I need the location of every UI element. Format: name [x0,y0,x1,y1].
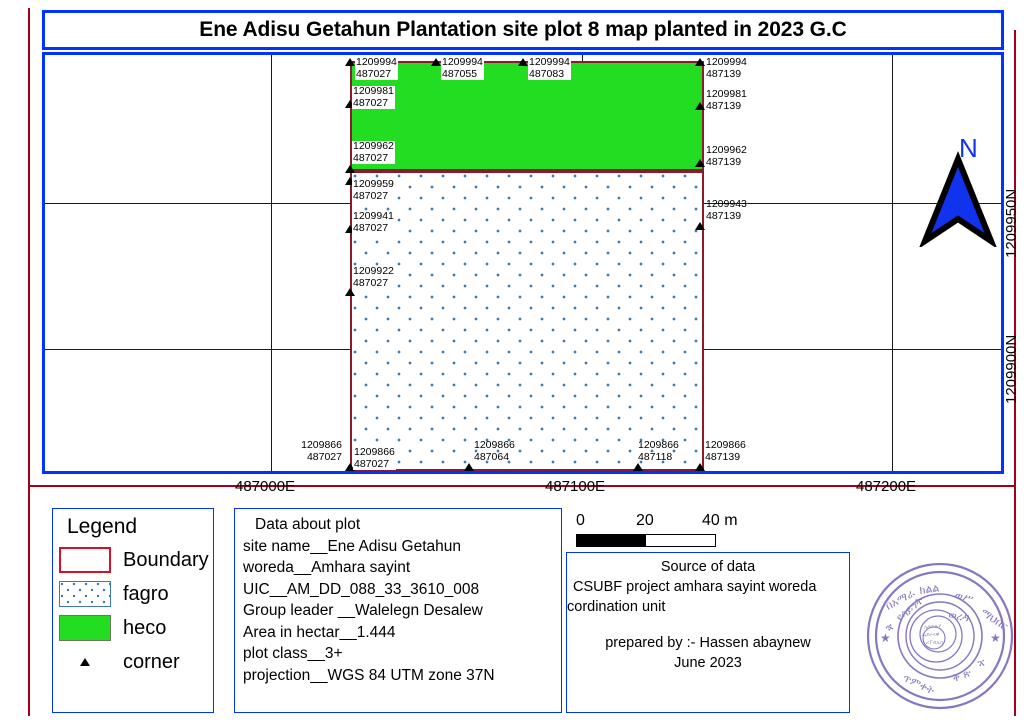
scale-tick-label: 40 m [702,512,738,530]
coord-label: 1209994 487083 [528,57,571,80]
svg-text:ፌደራላዊ: ፌደራላዊ [922,632,940,638]
legend-item-label: corner [123,651,180,674]
legend-item-label: fagro [123,583,169,606]
plot-data-row-group-leader: Group leader __Walelegn Desalew [243,600,561,622]
scale-bar [576,534,716,547]
source-line-1: CSUBF project amhara sayint woreda [567,577,849,597]
heco-polygon[interactable] [350,61,704,171]
corner-marker[interactable] [431,58,441,66]
scale-bar-segment-filled [577,535,646,546]
map-title-bar: Ene Adisu Getahun Plantation site plot 8… [42,10,1004,50]
corner-marker[interactable] [345,288,355,296]
corner-triangle-icon [59,649,111,675]
legend-item-fagro[interactable]: fagro [53,577,213,611]
coord-label: 1209941 487027 [352,211,395,234]
legend-item-corner[interactable]: corner [53,645,213,679]
coord-label: 1209866 487064 [473,440,516,463]
svg-text:ክልል: ክልል [919,581,941,597]
map-canvas[interactable]: 1209994 487027 1209994 487055 1209994 48… [45,55,1001,471]
svg-text:★: ★ [880,631,891,645]
corner-marker[interactable] [695,102,705,110]
graticule-line-vertical-487200 [892,55,893,471]
corner-marker[interactable] [633,463,643,471]
svg-text:ት: ት [974,655,989,669]
coord-label: 1209959 487027 [352,179,395,202]
corner-marker[interactable] [695,463,705,471]
plot-data-row-projection: projection__WGS 84 UTM zone 37N [243,665,561,687]
coord-label: 1209962 487027 [352,141,395,164]
north-arrow-icon [913,137,1003,247]
legend-title: Legend [53,515,213,539]
plot-data-panel: Data about plot site name__Ene Adisu Get… [234,508,562,713]
prepared-by-text: prepared by :- Hassen abaynew [567,633,849,653]
corner-marker[interactable] [695,58,705,66]
source-heading: Source of data [567,557,849,577]
x-axis-tick-label: 487000E [235,478,295,495]
legend-item-heco[interactable]: heco [53,611,213,645]
svg-text:ጥምቀት: ጥምቀት [901,671,937,698]
north-arrow-label: N [959,133,978,164]
corner-marker[interactable] [518,58,528,66]
corner-marker[interactable] [345,58,355,66]
plot-data-heading: Data about plot [243,514,561,536]
scale-bar-group: 0 20 40 m [576,512,836,547]
corner-marker[interactable] [695,222,705,230]
coord-label: 1209962 487139 [705,145,748,168]
scale-bar-segment-empty [646,535,715,546]
corner-marker[interactable] [695,159,705,167]
y-axis-tick-label: 1209950N [1003,189,1020,258]
coord-label: 1209994 487027 [355,57,398,80]
official-stamp-icon: በአማራ ክልል ወሥ ማህበር ቅ የሳይንት ወረዳ ጥምቀት ቅ ጽ ት … [862,556,1018,712]
plot-data-row-plot-class: plot class__3+ [243,643,561,665]
boundary-swatch-icon [59,547,111,573]
north-arrow: N [913,137,1003,247]
coord-label: 1209994 487139 [705,57,748,80]
x-axis-tick-label: 487200E [856,478,916,495]
plot-data-row-uic: UIC__AM_DD_088_33_3610_008 [243,579,561,601]
corner-marker[interactable] [464,463,474,471]
coord-label: 1209943 487139 [705,199,748,222]
scale-tick-label: 20 [636,512,654,530]
coord-label: 1209981 487139 [705,89,748,112]
plot-data-row-area: Area in hectar__1.444 [243,622,561,644]
legend-panel: Legend Boundary fagro heco corner [52,508,214,713]
graticule-line-vertical-487000 [271,55,272,471]
map-page: Ene Adisu Getahun Plantation site plot 8… [0,0,1024,724]
legend-item-boundary[interactable]: Boundary [53,543,213,577]
svg-text:★: ★ [990,631,1001,645]
coord-label: 1209994 487055 [441,57,484,80]
heco-swatch-icon [59,615,111,641]
svg-text:ኢትዮጵያ: ኢትዮጵያ [924,624,941,630]
corner-marker[interactable] [345,165,355,173]
svg-text:ወሥ: ወሥ [953,588,974,606]
fagro-swatch-icon [59,581,111,607]
scale-bar-labels: 0 20 40 m [576,512,836,534]
legend-item-label: heco [123,617,166,640]
frame-border-left [28,8,30,716]
plot-data-row-site-name: site name__Ene Adisu Getahun [243,536,561,558]
svg-text:ማህበር: ማህበር [978,606,1010,634]
map-frame[interactable]: 1209994 487027 1209994 487055 1209994 48… [42,52,1004,474]
official-stamp: በአማራ ክልል ወሥ ማህበር ቅ የሳይንት ወረዳ ጥምቀት ቅ ጽ ት … [862,556,1018,712]
source-spacer [567,617,849,633]
coord-label: 1209866 487027 [353,447,396,470]
svg-text:ቅ ጽ: ቅ ጽ [951,666,973,685]
plot-data-row-woreda: woreda__Amhara sayint [243,557,561,579]
svg-text:ሪፐብሊክ: ሪፐብሊክ [926,640,943,646]
legend-item-label: Boundary [123,549,209,572]
page-title: Ene Adisu Getahun Plantation site plot 8… [199,18,846,42]
coord-label: 1209866 487139 [704,440,747,463]
fagro-polygon[interactable] [350,171,704,471]
x-axis-tick-label: 487100E [545,478,605,495]
coord-label: 1209922 487027 [352,266,395,289]
y-axis-tick-label: 1209900N [1003,335,1020,404]
scale-tick-label: 0 [576,512,585,530]
coord-label: 1209866 487027 [263,440,343,463]
coord-label: 1209866 487118 [637,440,680,463]
coord-label: 1209981 487027 [352,86,395,109]
source-line-2: cordination unit [567,597,849,617]
prepared-date-text: June 2023 [567,653,849,673]
source-panel: Source of data CSUBF project amhara sayi… [566,552,850,713]
